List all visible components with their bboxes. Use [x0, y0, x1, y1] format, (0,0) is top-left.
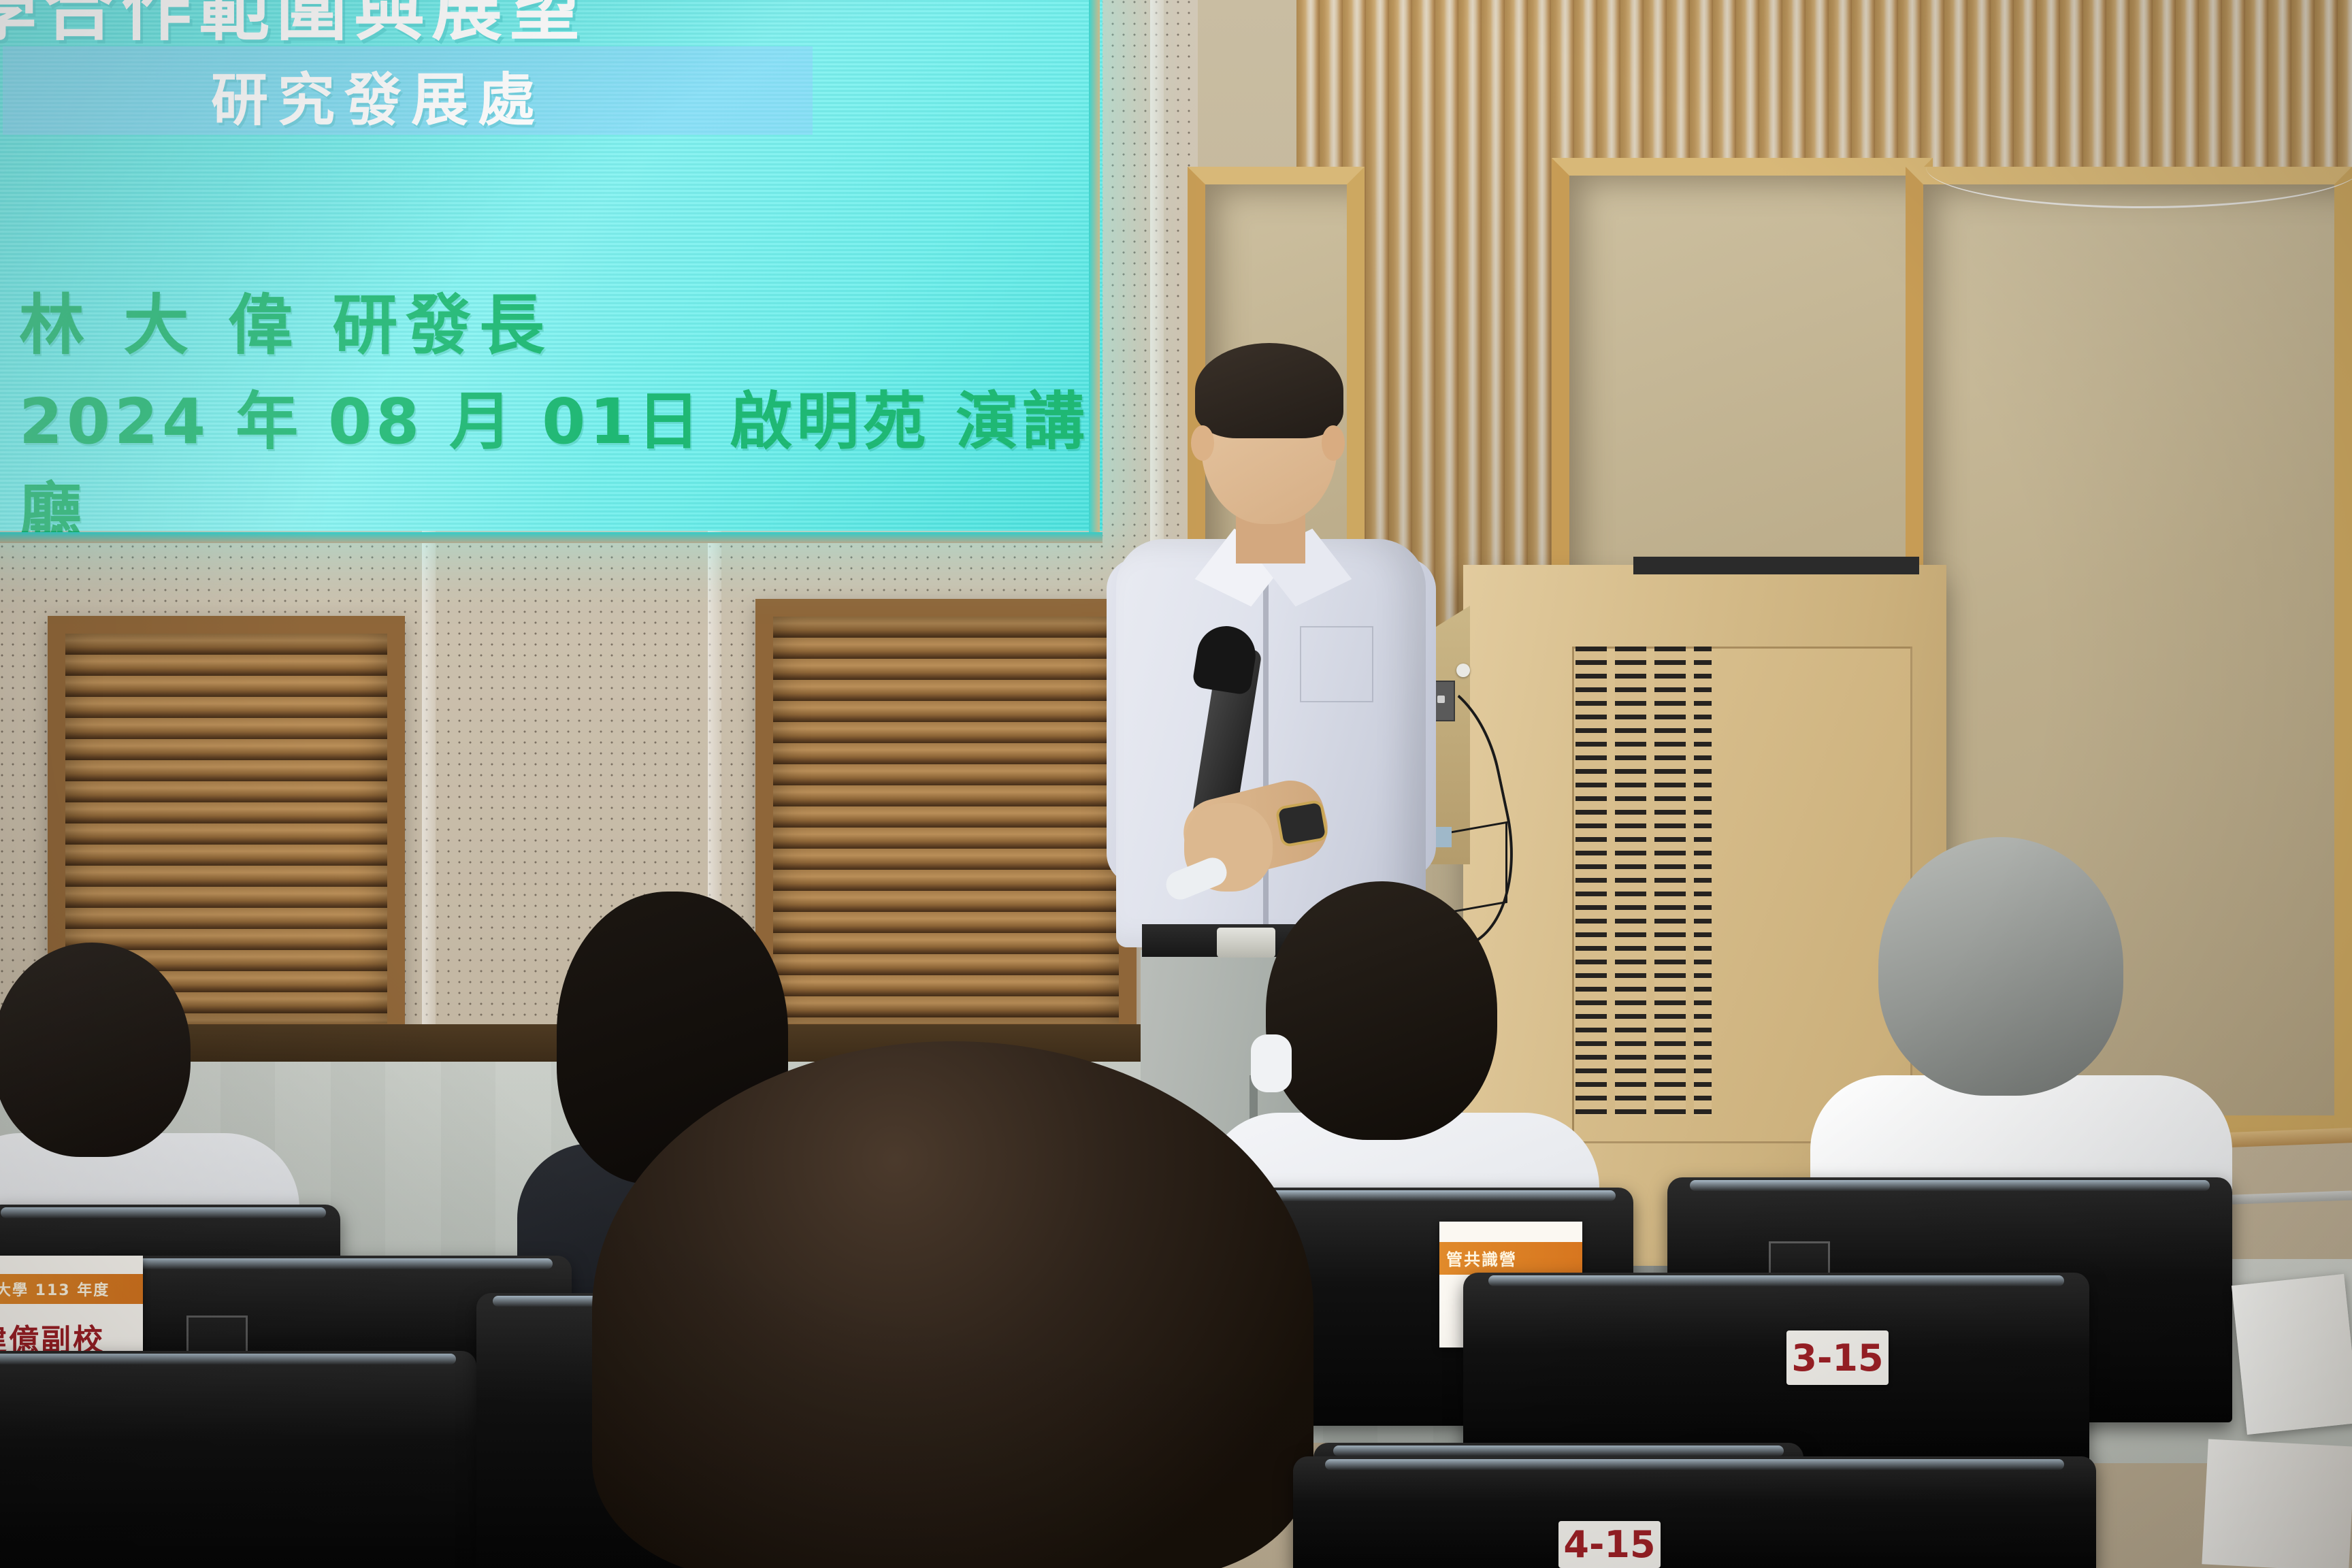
wristwatch-icon: [1275, 799, 1328, 847]
foreground-hair: [592, 1041, 1313, 1568]
slide-title: 學合作範圍與展望: [0, 0, 1055, 54]
auditorium-seat[interactable]: [1463, 1273, 2089, 1463]
nameplate-header: 南大學 113 年度: [0, 1274, 143, 1304]
audience-member-left: [0, 943, 293, 1228]
foreground-audience-member: [592, 1041, 1313, 1568]
projection-screen: 學合作範圍與展望 研究發展處 林 大 偉 研發長 2024 年 08 月 01日…: [0, 0, 1102, 531]
seat-number-label: 3-15: [1786, 1330, 1889, 1385]
podium-vent-grille: [1575, 647, 1712, 1116]
slide-subtitle-band: [3, 46, 813, 135]
auditorium-seat[interactable]: [1293, 1456, 2096, 1568]
audience-member-grey-hair: [1851, 837, 2178, 1191]
paper-sheet: [2232, 1274, 2352, 1435]
podium-top-surface: [1633, 557, 1919, 574]
screen-edge-right: [1089, 0, 1100, 538]
slide-subtitle: 研究發展處: [211, 54, 823, 137]
slide-date-venue: 2024 年 08 月 01日 啟明苑 演講廳: [19, 371, 1102, 552]
auditorium-seat[interactable]: [0, 1351, 476, 1568]
shirt-pocket: [1300, 626, 1373, 702]
nameplate-header: 管共識營: [1439, 1242, 1582, 1275]
seat-number-label: 4-15: [1558, 1521, 1661, 1568]
screen-edge-bottom: [0, 532, 1102, 543]
paper-stack: [2202, 1439, 2352, 1568]
lecture-hall-scene: 學合作範圍與展望 研究發展處 林 大 偉 研發長 2024 年 08 月 01日…: [0, 0, 2352, 1568]
slide-speaker-name: 林 大 偉 研發長: [19, 272, 553, 367]
